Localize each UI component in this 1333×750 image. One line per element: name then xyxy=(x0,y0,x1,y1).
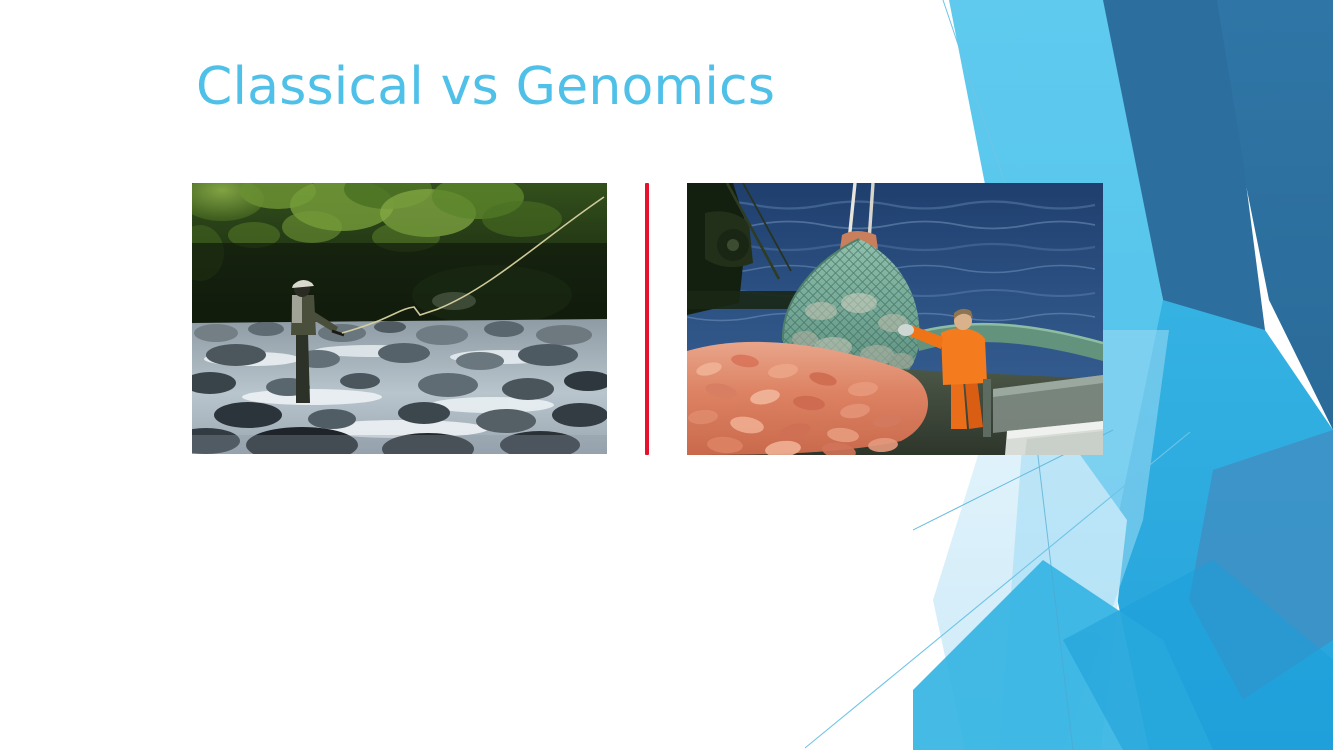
content-area xyxy=(0,0,1333,750)
image-classical-fishing xyxy=(192,183,607,454)
presentation-slide: Classical vs Genomics xyxy=(0,0,1333,750)
red-vertical-divider xyxy=(645,183,649,455)
image-industrial-fishing xyxy=(687,183,1103,455)
